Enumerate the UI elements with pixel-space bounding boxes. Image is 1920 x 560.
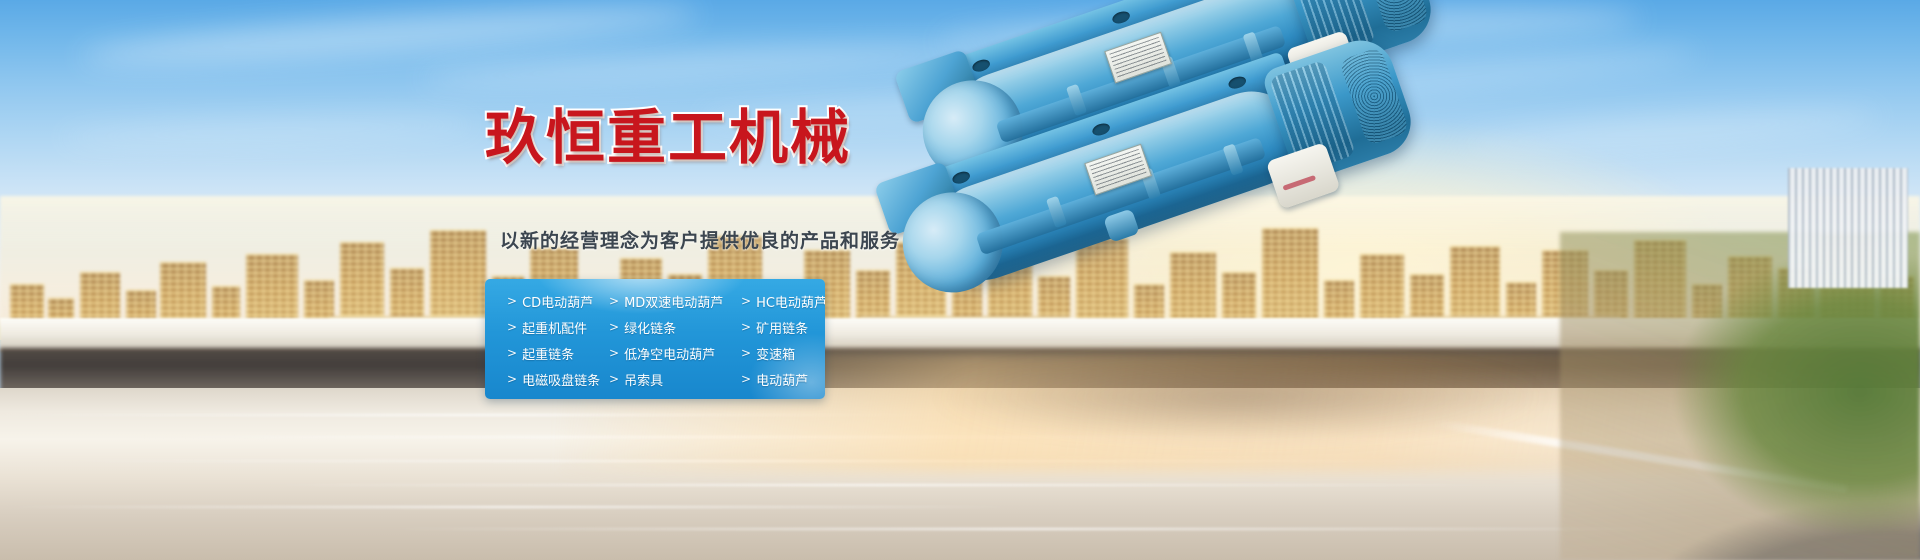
product-link-label: 起重机配件 — [522, 318, 587, 337]
product-link-label: 低净空电动葫芦 — [624, 344, 715, 363]
machinery-shadow — [930, 352, 1550, 442]
product-links-grid: >CD电动葫芦>MD双速电动葫芦>HC电动葫芦>起重机配件>绿化链条>矿用链条>… — [485, 279, 825, 392]
product-link-label: 变速箱 — [756, 344, 795, 363]
chevron-right-icon: > — [741, 321, 751, 333]
product-link[interactable]: >CD电动葫芦 — [507, 292, 609, 311]
chevron-right-icon: > — [741, 347, 751, 359]
product-link[interactable]: >绿化链条 — [609, 318, 741, 337]
chevron-right-icon: > — [741, 373, 751, 385]
chevron-right-icon: > — [507, 295, 517, 307]
cloud-streak — [60, 113, 481, 150]
chevron-right-icon: > — [507, 321, 517, 333]
chevron-right-icon: > — [609, 373, 619, 385]
product-link-label: 矿用链条 — [756, 318, 808, 337]
chevron-right-icon: > — [609, 347, 619, 359]
chevron-right-icon: > — [609, 321, 619, 333]
product-link-label: HC电动葫芦 — [756, 292, 825, 311]
chevron-right-icon: > — [507, 347, 517, 359]
product-link[interactable]: >起重机配件 — [507, 318, 609, 337]
product-link-label: 起重链条 — [522, 344, 574, 363]
product-link-label: 电动葫芦 — [756, 370, 808, 389]
product-link[interactable]: >吊索具 — [609, 370, 741, 389]
product-links-panel: >CD电动葫芦>MD双速电动葫芦>HC电动葫芦>起重机配件>绿化链条>矿用链条>… — [485, 279, 825, 399]
product-link[interactable]: >变速箱 — [741, 344, 825, 363]
cloud-streak — [1180, 41, 1700, 110]
product-link-label: 吊索具 — [624, 370, 663, 389]
cloud-streak — [940, 0, 1641, 62]
product-link[interactable]: >MD双速电动葫芦 — [609, 292, 741, 311]
product-link-label: 绿化链条 — [624, 318, 676, 337]
product-link[interactable]: >电动葫芦 — [741, 370, 825, 389]
chevron-right-icon: > — [741, 295, 751, 307]
banner-headline: 玖恒重工机械 — [485, 108, 851, 167]
product-link[interactable]: >低净空电动葫芦 — [609, 344, 741, 363]
product-link[interactable]: >矿用链条 — [741, 318, 825, 337]
product-link[interactable]: >起重链条 — [507, 344, 609, 363]
product-link-label: MD双速电动葫芦 — [624, 292, 723, 311]
product-link-label: CD电动葫芦 — [522, 292, 593, 311]
hero-banner: 玖恒重工机械 以新的经营理念为客户提供优良的产品和服务 >CD电动葫芦>MD双速… — [0, 0, 1920, 560]
product-link[interactable]: >HC电动葫芦 — [741, 292, 825, 311]
product-link-label: 电磁吸盘链条 — [522, 370, 600, 389]
product-link[interactable]: >电磁吸盘链条 — [507, 370, 609, 389]
chevron-right-icon: > — [609, 295, 619, 307]
cloud-streak — [420, 37, 981, 92]
banner-subheadline: 以新的经营理念为客户提供优良的产品和服务 — [500, 226, 900, 253]
right-tower-building — [1788, 168, 1908, 288]
chevron-right-icon: > — [507, 373, 517, 385]
